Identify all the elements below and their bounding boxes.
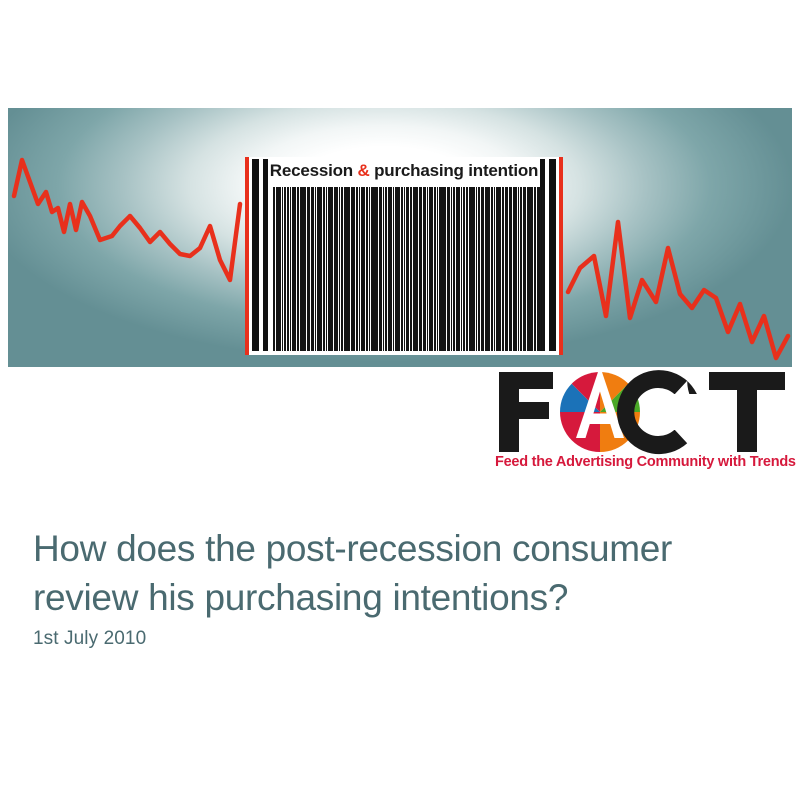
- barcode-bar-group: [273, 187, 535, 351]
- barcode-bar: [300, 187, 306, 351]
- barcode-bar: [376, 187, 378, 351]
- barcode-bar: [359, 187, 360, 351]
- barcode-title-suffix: purchasing intention: [370, 161, 539, 180]
- barcode-bar: [323, 187, 325, 351]
- barcode-bar: [315, 187, 316, 351]
- barcode-bar: [453, 187, 455, 351]
- barcode-bar: [339, 187, 340, 351]
- logo-letter-t: [709, 372, 785, 452]
- barcode-bar: [311, 187, 314, 351]
- barcode-bar: [361, 187, 365, 351]
- barcode-bar: [356, 187, 358, 351]
- barcode-bar: [496, 187, 501, 351]
- trend-line-right: [568, 222, 788, 358]
- barcode-guard-bar-right-outer: [549, 159, 556, 351]
- barcode-graphic: Recession & purchasing intention: [245, 157, 563, 355]
- barcode-bar: [401, 187, 403, 351]
- barcode-bar: [282, 187, 283, 351]
- logo-letter-f: [499, 372, 553, 452]
- barcode-bar: [481, 187, 484, 351]
- page-title: How does the post-recession consumer rev…: [33, 524, 763, 622]
- barcode-bar: [406, 187, 409, 351]
- barcode-bar: [290, 187, 291, 351]
- barcode-bar: [532, 187, 533, 351]
- barcode-bar: [542, 187, 543, 351]
- barcode-bar: [456, 187, 460, 351]
- barcode-bar: [429, 187, 433, 351]
- trend-line-left: [14, 160, 240, 280]
- barcode-bar: [395, 187, 401, 351]
- barcode-bar: [379, 187, 382, 351]
- barcode-bar: [307, 187, 308, 351]
- barcode-bar: [287, 187, 289, 351]
- fact-wordmark-icon: [495, 368, 790, 456]
- barcode-bar: [352, 187, 355, 351]
- barcode-bar: [344, 187, 350, 351]
- barcode-bar: [420, 187, 422, 351]
- barcode-bar: [292, 187, 296, 351]
- barcode-bar: [439, 187, 441, 351]
- barcode-bar: [388, 187, 392, 351]
- barcode-bar: [494, 187, 495, 351]
- title-banner-image: Recession & purchasing intention: [8, 108, 792, 367]
- barcode-bar: [331, 187, 333, 351]
- barcode-bar: [523, 187, 526, 351]
- barcode-bar: [513, 187, 517, 351]
- barcode-guard-bar-left-outer: [252, 159, 259, 351]
- barcode-bar: [463, 187, 466, 351]
- barcode-bar: [509, 187, 510, 351]
- barcode-bar: [413, 187, 418, 351]
- barcode-bar: [461, 187, 462, 351]
- barcode-bar: [478, 187, 480, 351]
- barcode-bar: [341, 187, 343, 351]
- barcode-bar: [371, 187, 376, 351]
- barcode-bar: [404, 187, 405, 351]
- barcode-bar: [297, 187, 299, 351]
- barcode-bar: [369, 187, 370, 351]
- barcode-bar: [434, 187, 436, 351]
- barcode-title-ampersand: &: [358, 161, 370, 180]
- barcode-bar: [518, 187, 519, 351]
- barcode-bar: [485, 187, 486, 351]
- barcode-bar: [486, 187, 490, 351]
- barcode-bar: [447, 187, 450, 351]
- logo-tagline: Feed the Advertising Community with Tren…: [495, 454, 790, 470]
- barcode-bar: [385, 187, 387, 351]
- barcode-bar: [419, 187, 420, 351]
- presentation-title-slide: Recession & purchasing intention: [0, 0, 800, 800]
- barcode-title-prefix: Recession: [270, 161, 358, 180]
- barcode-bar: [383, 187, 384, 351]
- barcode-bar: [469, 187, 475, 351]
- page-title-line-2: review his purchasing intentions?: [33, 577, 568, 618]
- barcode-bar: [427, 187, 428, 351]
- barcode-bar: [334, 187, 338, 351]
- barcode-guard-bar-left-inner: [263, 159, 268, 351]
- barcode-bar: [393, 187, 394, 351]
- barcode-bar: [466, 187, 468, 351]
- barcode-bar: [476, 187, 477, 351]
- barcode-bar: [366, 187, 368, 351]
- barcode-bar: [534, 187, 536, 351]
- barcode-bar: [527, 187, 532, 351]
- barcode-bar: [308, 187, 310, 351]
- barcode-bar: [276, 187, 281, 351]
- barcode-bar: [284, 187, 287, 351]
- barcode-bar: [502, 187, 504, 351]
- barcode-bar: [410, 187, 412, 351]
- barcode-bar: [326, 187, 327, 351]
- barcode-bar: [423, 187, 426, 351]
- logo-letter-c: [617, 370, 705, 454]
- barcode-bar: [273, 187, 275, 351]
- barcode-bar: [351, 187, 352, 351]
- barcode-bar: [510, 187, 512, 351]
- page-title-line-1: How does the post-recession consumer: [33, 528, 672, 569]
- barcode-bar: [317, 187, 322, 351]
- barcode-bar: [451, 187, 452, 351]
- fact-logo: Feed the Advertising Community with Tren…: [495, 368, 790, 480]
- presentation-date: 1st July 2010: [33, 628, 146, 650]
- barcode-bar: [437, 187, 438, 351]
- barcode-bar: [505, 187, 508, 351]
- barcode-bar: [537, 187, 541, 351]
- barcode-bar: [520, 187, 522, 351]
- barcode-bar: [491, 187, 493, 351]
- barcode-bar: [328, 187, 331, 351]
- barcode-title-text: Recession & purchasing intention: [249, 161, 559, 181]
- barcode-bar: [441, 187, 446, 351]
